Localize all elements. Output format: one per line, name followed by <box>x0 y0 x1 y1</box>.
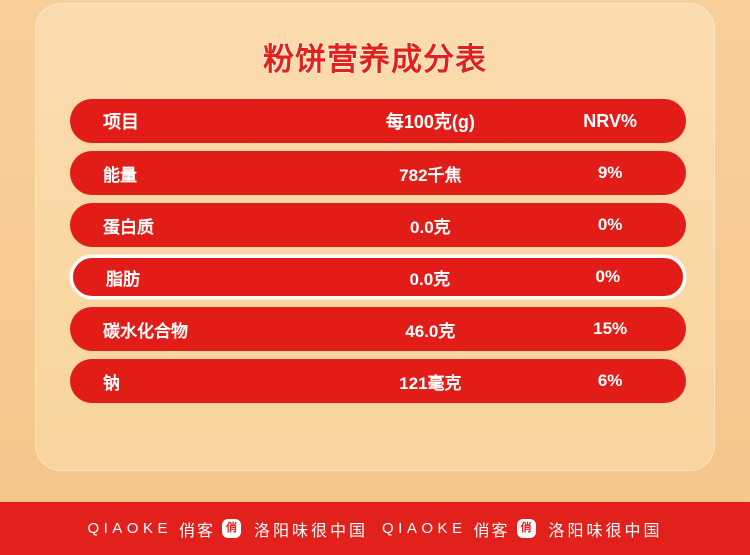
row-label-fat: 脂肪 <box>73 265 317 290</box>
nutrition-facts-page: 粉饼营养成分表 项目 每100克(g) NRV% 能量 782千焦 9% 蛋白质… <box>0 0 750 555</box>
row-nrv-carbohydrate: 15% <box>544 319 686 339</box>
column-header-nrv: NRV% <box>544 111 686 132</box>
table-row-protein[interactable]: 蛋白质 0.0克 0% <box>70 203 686 247</box>
row-value-energy: 782千焦 <box>316 161 544 186</box>
brand-chinese-name: 俏客 <box>474 517 510 541</box>
row-nrv-fat: 0% <box>543 267 683 287</box>
brand-latin-name: QIAOKE <box>87 520 172 537</box>
table-header-row: 项目 每100克(g) NRV% <box>70 99 686 143</box>
row-label-sodium: 钠 <box>70 369 316 394</box>
row-value-fat: 0.0克 <box>317 265 543 290</box>
brand-slogan: 洛阳味很中国 <box>254 517 368 541</box>
row-value-carbohydrate: 46.0克 <box>316 317 544 342</box>
row-nrv-protein: 0% <box>544 215 686 235</box>
row-value-sodium: 121毫克 <box>316 369 544 394</box>
row-label-energy: 能量 <box>70 161 316 186</box>
nutrition-table: 项目 每100克(g) NRV% 能量 782千焦 9% 蛋白质 0.0克 0%… <box>70 99 686 403</box>
row-label-protein: 蛋白质 <box>70 213 316 238</box>
row-nrv-energy: 9% <box>544 163 686 183</box>
brand-slogan: 洛阳味很中国 <box>549 517 663 541</box>
brand-logo-icon: 俏 <box>517 519 536 538</box>
row-nrv-sodium: 6% <box>544 371 686 391</box>
column-header-item: 项目 <box>70 108 316 134</box>
table-row-carbohydrate[interactable]: 碳水化合物 46.0克 15% <box>70 307 686 351</box>
brand-chinese-name: 俏客 <box>179 517 215 541</box>
row-label-carbohydrate: 碳水化合物 <box>70 317 316 342</box>
table-row-fat[interactable]: 脂肪 0.0克 0% <box>70 255 686 299</box>
table-row-sodium[interactable]: 钠 121毫克 6% <box>70 359 686 403</box>
page-title: 粉饼营养成分表 <box>0 34 750 79</box>
brand-logo-icon: 俏 <box>222 519 241 538</box>
column-header-per-100g: 每100克(g) <box>316 108 544 134</box>
brand-latin-name: QIAOKE <box>382 520 467 537</box>
brand-banner: QIAOKE 俏客 俏 洛阳味很中国 QIAOKE 俏客 俏 洛阳味很中国 <box>0 502 750 555</box>
brand-banner-unit: QIAOKE 俏客 俏 洛阳味很中国 <box>382 517 663 541</box>
brand-banner-unit: QIAOKE 俏客 俏 洛阳味很中国 <box>87 517 368 541</box>
row-value-protein: 0.0克 <box>316 213 544 238</box>
table-row-energy[interactable]: 能量 782千焦 9% <box>70 151 686 195</box>
